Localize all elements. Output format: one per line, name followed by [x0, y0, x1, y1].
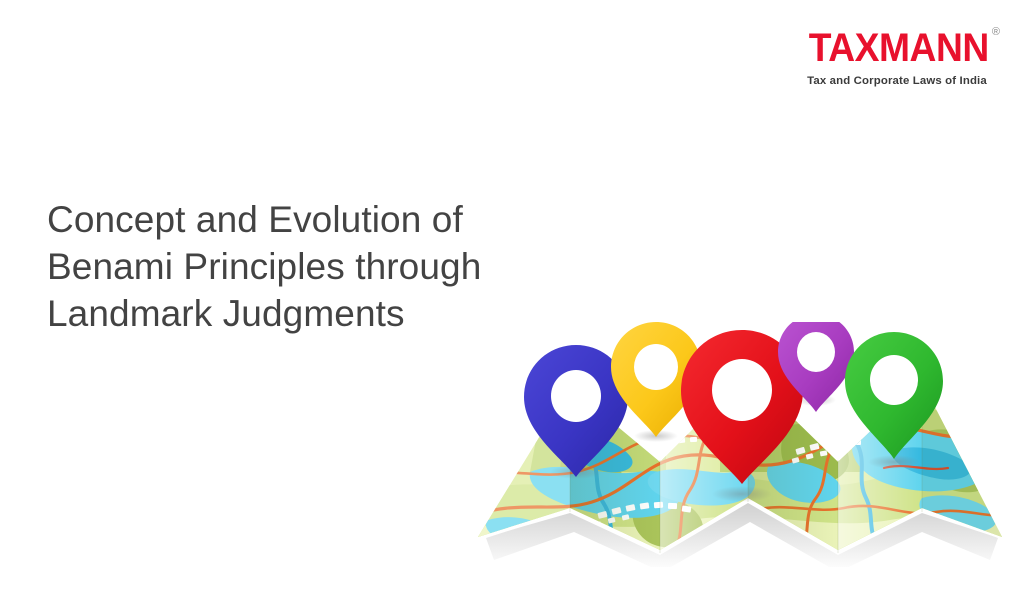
logo-wordmark-row: TAXMANN ®	[802, 28, 992, 68]
map-illustration	[470, 322, 1010, 567]
title-line-2: Benami Principles through	[47, 243, 607, 290]
logo-tagline: Tax and Corporate Laws of India	[802, 75, 992, 87]
article-banner: TAXMANN ® Tax and Corporate Laws of Indi…	[0, 0, 1024, 600]
title-line-1: Concept and Evolution of	[47, 196, 607, 243]
taxmann-logo[interactable]: TAXMANN ® Tax and Corporate Laws of Indi…	[802, 28, 992, 87]
registered-trademark-icon: ®	[992, 27, 1000, 38]
page-title: Concept and Evolution of Benami Principl…	[47, 196, 607, 337]
logo-wordmark: TAXMANN	[809, 28, 989, 68]
